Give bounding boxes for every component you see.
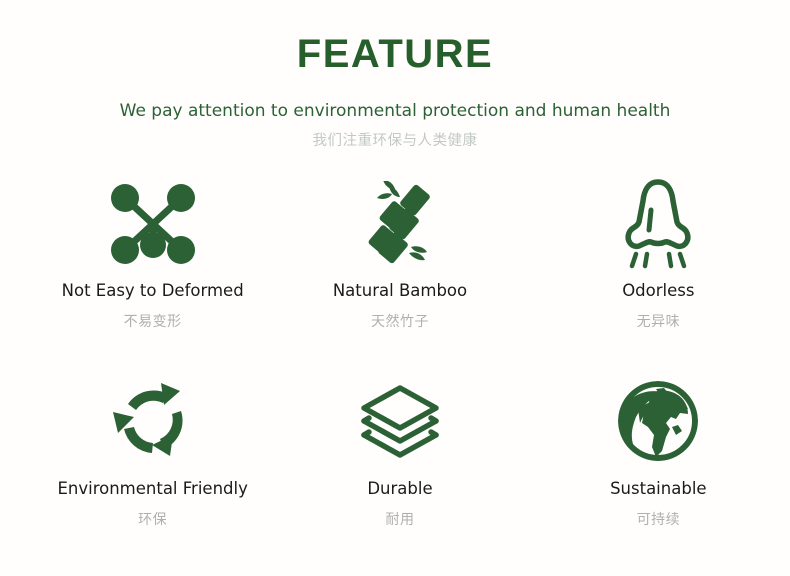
feature-section: FEATURE We pay attention to environmenta… bbox=[0, 0, 790, 576]
feature-label-en: Not Easy to Deformed bbox=[62, 281, 244, 301]
section-header: FEATURE We pay attention to environmenta… bbox=[0, 0, 790, 151]
feature-label-en: Environmental Friendly bbox=[57, 479, 247, 499]
bamboo-icon bbox=[359, 177, 441, 271]
feature-label-cn: 环保 bbox=[138, 512, 167, 529]
feature-label-en: Durable bbox=[367, 479, 432, 499]
feature-label-cn: 耐用 bbox=[385, 512, 414, 529]
layers-icon bbox=[359, 373, 441, 469]
feature-item-sustainable: Sustainable 可持续 bbox=[527, 373, 790, 569]
nose-icon bbox=[621, 177, 695, 271]
feature-item-natural-bamboo: Natural Bamboo 天然竹子 bbox=[263, 177, 526, 373]
feature-item-not-easy-to-deformed: Not Easy to Deformed 不易变形 bbox=[0, 177, 263, 373]
subtitle-english: We pay attention to environmental protec… bbox=[0, 101, 790, 121]
feature-label-cn: 天然竹子 bbox=[371, 314, 429, 331]
subtitle-chinese: 我们注重环保与人类健康 bbox=[0, 133, 790, 150]
feature-item-odorless: Odorless 无异味 bbox=[527, 177, 790, 373]
globe-leaf-icon bbox=[616, 373, 700, 469]
feature-label-cn: 不易变形 bbox=[124, 314, 182, 331]
feature-item-environmental-friendly: Environmental Friendly 环保 bbox=[0, 373, 263, 569]
recycle-icon bbox=[111, 373, 195, 469]
feature-label-en: Sustainable bbox=[610, 479, 706, 499]
feature-label-cn: 无异味 bbox=[637, 314, 681, 331]
feature-item-durable: Durable 耐用 bbox=[263, 373, 526, 569]
feature-label-en: Odorless bbox=[622, 281, 694, 301]
molecule-network-icon bbox=[109, 177, 197, 271]
feature-label-en: Natural Bamboo bbox=[333, 281, 467, 301]
feature-grid: Not Easy to Deformed 不易变形 bbox=[0, 177, 790, 569]
feature-label-cn: 可持续 bbox=[637, 512, 681, 529]
page-title: FEATURE bbox=[0, 34, 790, 74]
